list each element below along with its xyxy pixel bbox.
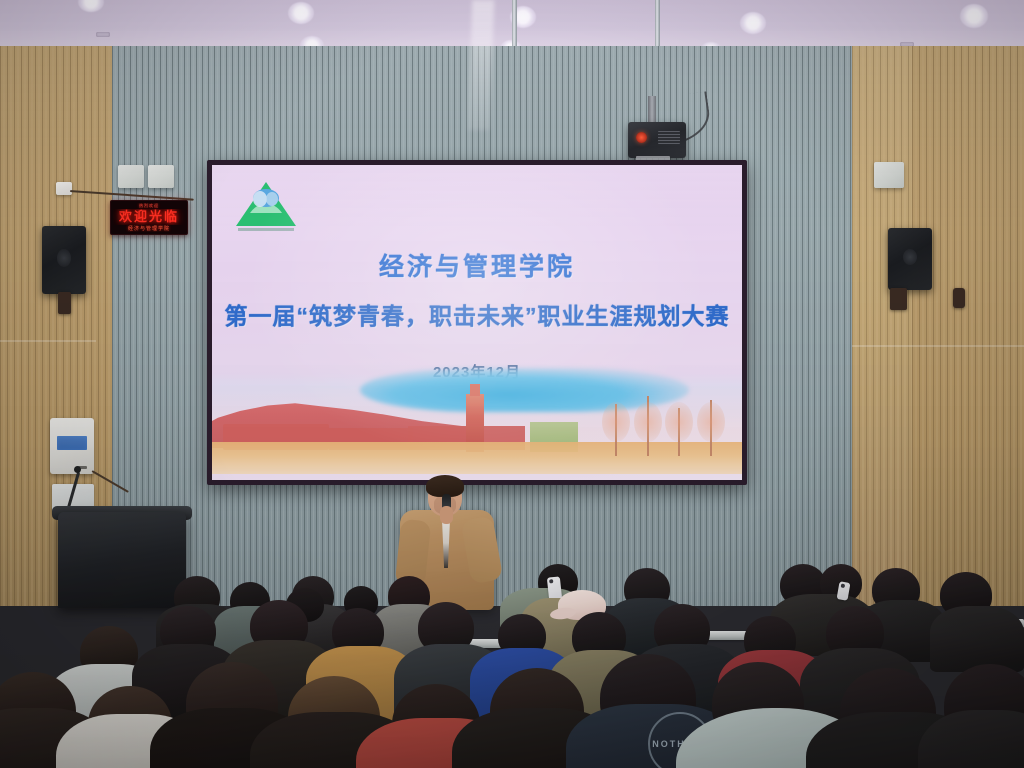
projection-screen: 经济与管理学院 第一届“筑梦青春，职击未来”职业生涯规划大赛 2023年12月	[212, 165, 742, 480]
ceiling-downlight	[288, 2, 314, 24]
illustration-tree	[615, 404, 617, 456]
wall-mount-hook	[953, 288, 965, 308]
ceiling-downlight	[740, 12, 766, 34]
wall-seam	[852, 345, 1024, 347]
illustration-tree	[710, 400, 712, 456]
microphone-capsule-icon	[74, 466, 81, 473]
slide-event-title: 第一届“筑梦青春，职击未来”职业生涯规划大赛	[212, 297, 742, 331]
wall-junction-box	[56, 182, 72, 195]
ceiling-projector	[628, 122, 686, 158]
presenter-hand	[440, 506, 453, 524]
ceiling-downlight	[78, 0, 104, 12]
university-emblem-icon	[230, 179, 302, 235]
led-sign-bottom-line: 经济与管理学院	[114, 225, 184, 232]
wall-control-panel[interactable]	[50, 418, 94, 474]
wall-speaker-right	[888, 228, 932, 290]
wood-slat-wall-right-inner	[852, 46, 914, 606]
wall-seam	[0, 340, 96, 342]
illustration-ground	[212, 442, 742, 474]
projector-lens	[636, 132, 647, 143]
acoustic-pad	[148, 165, 174, 188]
audience-body	[930, 606, 1024, 672]
ceiling-downlight	[960, 4, 988, 28]
illustration-tree	[647, 396, 649, 456]
illustration-tree	[678, 408, 680, 456]
speaker-bracket	[58, 292, 71, 314]
led-sign-main-line: 欢迎光临	[113, 209, 185, 225]
acoustic-pad	[118, 165, 144, 188]
speaker-bracket	[890, 288, 907, 310]
projection-screen-frame: 经济与管理学院 第一届“筑梦青春，职击未来”职业生涯规划大赛 2023年12月	[207, 160, 747, 485]
lectern	[58, 512, 186, 608]
acoustic-pad	[874, 162, 904, 188]
led-scrolling-sign: 热烈欢迎 欢迎光临 经济与管理学院	[110, 200, 188, 235]
wood-slat-wall-right	[912, 46, 1024, 606]
slide-organization-title: 经济与管理学院	[212, 247, 742, 283]
wall-speaker-left	[42, 226, 86, 294]
ceiling-vent	[96, 32, 110, 37]
campus-panorama-illustration	[212, 362, 742, 474]
control-panel-display	[57, 436, 87, 450]
projector-beam	[468, 0, 495, 130]
projector-vent	[658, 131, 680, 144]
lecture-hall-photo: 热烈欢迎 欢迎光临 经济与管理学院	[0, 0, 1024, 768]
